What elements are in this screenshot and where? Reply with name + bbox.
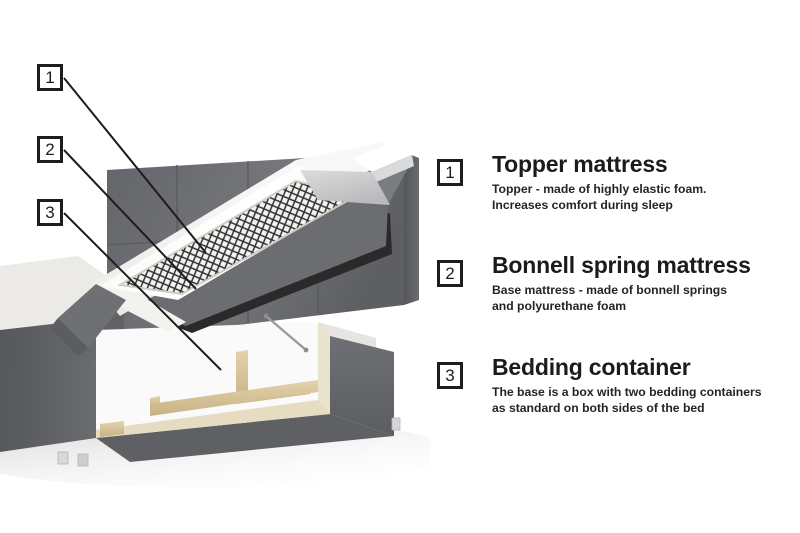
legend-text-2: Bonnell spring mattress Base mattress - …	[492, 253, 792, 315]
legend-title-3: Bedding container	[492, 355, 792, 380]
legend-description-2-line-1: Base mattress - made of bonnell springs	[492, 282, 792, 298]
legend-title-2: Bonnell spring mattress	[492, 253, 792, 278]
bed-illustration-svg	[0, 0, 430, 500]
legend-number-3: 3	[437, 362, 463, 389]
legend-number-2: 2	[437, 260, 463, 287]
legend-description-1-line-1: Topper - made of highly elastic foam.	[492, 181, 792, 197]
legend-description-1-line-2: Increases comfort during sleep	[492, 197, 792, 213]
callout-number-2[interactable]: 2	[37, 136, 63, 163]
callout-number-3[interactable]: 3	[37, 199, 63, 226]
callout-number-1[interactable]: 1	[37, 64, 63, 91]
bed-illustration: 1 2 3	[0, 0, 430, 500]
legend-description-3-line-1: The base is a box with two bedding conta…	[492, 384, 792, 400]
legend-number-1: 1	[437, 159, 463, 186]
legend-description-2-line-2: and polyurethane foam	[492, 298, 792, 314]
legend-text-1: Topper mattress Topper - made of highly …	[492, 152, 792, 214]
legend-title-1: Topper mattress	[492, 152, 792, 177]
legend-description-3-line-2: as standard on both sides of the bed	[492, 400, 792, 416]
legend-text-3: Bedding container The base is a box with…	[492, 355, 792, 417]
product-infographic: 1 2 3 1 Topper mattress Topper - made of…	[0, 0, 800, 533]
legend-panel: 1 Topper mattress Topper - made of highl…	[430, 0, 800, 533]
legend-description-2: Base mattress - made of bonnell springs …	[492, 282, 792, 315]
legend-description-1: Topper - made of highly elastic foam. In…	[492, 181, 792, 214]
bedding-container-shell	[0, 356, 112, 452]
legend-description-3: The base is a box with two bedding conta…	[492, 384, 792, 417]
